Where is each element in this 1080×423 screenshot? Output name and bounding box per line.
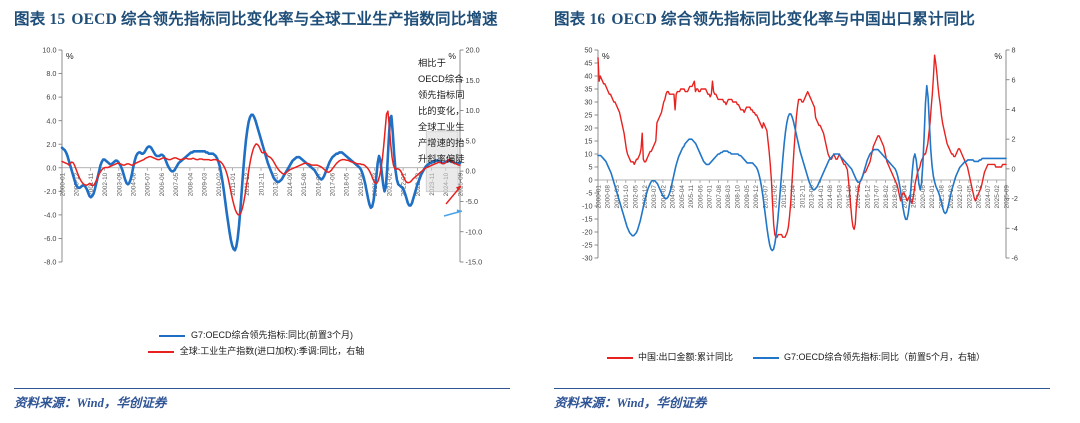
y2-axis-tick-label: 5.0 [466,136,476,145]
y-axis-tick-label: -10 [582,202,593,211]
figure-15-legend: G7:OECD综合领先指标:同比(前置3个月) 全球:工业生产指数(进口加权):… [0,330,512,357]
figure-16-legend: 中国:出口金额:累计同比 G7:OECD综合领先指标:同比（前置5个月，右轴） [540,352,1052,364]
chart-annotation-line: 领先指标同 [418,89,465,100]
y-axis-unit-label: % [66,51,74,61]
legend-label-red: 全球:工业生产指数(进口加权):季调:同比，右轴 [180,346,365,358]
series-line [598,86,1006,251]
y-axis-tick-label: 4.0 [46,116,56,125]
x-axis-tick-label: 2017-06 [329,172,336,196]
y-axis-tick-label: 30 [584,98,592,107]
legend-swatch-blue [159,335,185,337]
figure-16-number: 图表 16 [554,11,605,28]
chart-annotation-line: 升斜率偏陡 [418,153,465,164]
y2-axis-tick-label: 8 [1012,46,1016,55]
x-axis-tick-label: 2015-03 [836,185,843,209]
x-axis-tick-label: 2007-08 [716,185,723,209]
y-axis-tick-label: -2.0 [44,187,57,196]
legend-label-blue: G7:OECD综合领先指标:同比(前置3个月) [191,330,353,342]
y-axis-tick-label: 20 [584,124,592,133]
legend-swatch-blue [753,357,779,359]
legend-row-combined: 中国:出口金额:累计同比 G7:OECD综合领先指标:同比（前置5个月，右轴） [540,352,1052,364]
figure-16-title: 图表 16OECD 综合领先指标同比变化率与中国出口累计同比 [554,0,1066,32]
y-axis-tick-label: 6.0 [46,93,56,102]
x-axis-tick-label: 2015-08 [301,172,308,196]
legend-swatch-red [148,351,174,353]
y2-axis-unit-label: % [994,51,1002,61]
y-axis-tick-label: 50 [584,46,592,55]
legend-group-red: 中国:出口金额:累计同比 [607,352,733,364]
x-axis-tick-label: 2024-07 [985,185,992,209]
y-axis-tick-label: 0 [588,176,592,185]
figure-16-divider [554,388,1050,389]
x-axis-tick-label: 2022-10 [957,185,964,209]
legend-row-blue: G7:OECD综合领先指标:同比(前置3个月) [0,330,512,342]
legend-swatch-red [607,357,633,359]
x-axis-tick-label: 2025-02 [994,185,1001,209]
y-axis-tick-label: 5 [588,163,592,172]
y-axis-tick-label: -6.0 [44,234,57,243]
x-axis-tick-label: 2025-09 [457,172,464,196]
x-axis-tick-label: 2021-01 [929,185,936,209]
y2-axis-tick-label: -2 [1012,194,1019,203]
x-axis-tick-label: 2011-09 [781,185,788,208]
y2-axis-tick-label: -6 [1012,254,1019,263]
x-axis-tick-label: 2014-01 [818,185,825,209]
x-axis-tick-label: 2000-01 [59,172,66,196]
x-axis-tick-label: 2000-01 [595,185,602,209]
x-axis-tick-label: 2006-06 [159,172,166,196]
x-axis-tick-label: 2006-06 [697,185,704,209]
y-axis-tick-label: -5 [586,189,593,198]
y-axis-tick-label: -4.0 [44,211,57,220]
y2-axis-tick-label: 0.0 [466,167,476,176]
y-axis-tick-label: -25 [582,241,593,250]
x-axis-tick-label: 2012-11 [799,185,806,208]
chart-annotation-line: OECD综合 [418,73,463,84]
legend-row-red: 全球:工业生产指数(进口加权):季调:同比，右轴 [0,346,512,358]
y2-axis-tick-label: 20.0 [466,46,480,55]
x-axis-tick-label: 2025-09 [1003,185,1010,209]
y-axis-tick-label: -20 [582,228,593,237]
figure-15-divider [14,388,510,389]
legend-label-blue: G7:OECD综合领先指标:同比（前置5个月，右轴） [784,352,985,364]
x-axis-tick-label: 2001-10 [623,185,630,209]
legend-group-blue: G7:OECD综合领先指标:同比（前置5个月，右轴） [753,352,985,364]
x-axis-tick-label: 2009-03 [202,172,209,196]
figure-15-chart: 10.08.06.04.02.00.0-2.0-4.0-6.0-8.020.01… [14,36,526,336]
x-axis-tick-label: 2017-07 [874,185,881,209]
x-axis-tick-label: 2012-11 [258,172,265,195]
figure-15-panel: 图表 15OECD 综合领先指标同比变化率与全球工业生产指数同比增速 10.08… [0,0,540,423]
y2-axis-tick-label: 0 [1012,164,1016,173]
x-axis-tick-label: 2009-05 [744,185,751,209]
y-axis-tick-label: 10 [584,150,592,159]
series-line [598,55,1006,237]
figure-16-panel: 图表 16OECD 综合领先指标同比变化率与中国出口累计同比 504540353… [540,0,1080,423]
figure-16-title-text: OECD 综合领先指标同比变化率与中国出口累计同比 [611,11,975,28]
figure-16-source: 资料来源：Wind，华创证券 [554,392,706,411]
y2-axis-unit-label: % [448,51,456,61]
x-axis-tick-label: 2008-04 [187,172,194,196]
y2-axis-tick-label: 15.0 [466,76,480,85]
y2-axis-tick-label: -10.0 [466,227,483,236]
y-axis-tick-label: 25 [584,111,592,120]
legend-label-red: 中国:出口金额:累计同比 [638,352,733,364]
x-axis-tick-label: 2014-08 [827,185,834,209]
y-axis-tick-label: 0.0 [46,163,56,172]
x-axis-tick-label: 2008-03 [725,185,732,209]
y-axis-tick-label: 2.0 [46,140,56,149]
y-axis-tick-label: -15 [582,215,593,224]
y-axis-tick-label: 15 [584,137,592,146]
x-axis-tick-label: 2007-01 [707,185,714,209]
figure-16-chart: 50454035302520151050-5-10-15-20-25-30864… [554,36,1066,336]
x-axis-tick-label: 2018-05 [344,172,351,196]
x-axis-tick-label: 2005-07 [145,172,152,196]
x-axis-tick-label: 2014-09 [287,172,294,196]
y2-axis-tick-label: -5.0 [466,197,479,206]
y-axis-tick-label: -8.0 [44,258,57,267]
report-page: 图表 15OECD 综合领先指标同比变化率与全球工业生产指数同比增速 10.08… [0,0,1080,423]
y2-axis-tick-label: 2 [1012,135,1016,144]
y-axis-tick-label: 35 [584,85,592,94]
chart-annotation-line: 全球工业生 [418,121,465,132]
chart-annotation: 相比于OECD综合领先指标同比的变化，全球工业生产增速的抬升斜率偏陡 [418,57,465,164]
figure-16-svg: 50454035302520151050-5-10-15-20-25-30864… [554,36,1066,336]
x-axis-tick-label: 2007-05 [173,172,180,196]
figure-15-title: 图表 15OECD 综合领先指标同比变化率与全球工业生产指数同比增速 [14,0,526,32]
x-axis-tick-label: 2005-04 [679,185,686,209]
y2-axis-tick-label: -15.0 [466,258,483,267]
x-axis-tick-label: 2018-02 [883,185,890,209]
chart-annotation-line: 比的变化， [418,105,465,116]
y2-axis-tick-label: -4 [1012,224,1019,233]
figure-15-svg: 10.08.06.04.02.00.0-2.0-4.0-6.0-8.020.01… [14,36,526,336]
x-axis-tick-label: 2005-11 [688,185,695,208]
figure-15-source: 资料来源：Wind，华创证券 [14,392,166,411]
chart-annotation-line: 相比于 [418,57,446,68]
x-axis-tick-label: 2002-05 [632,185,639,209]
x-axis-tick-label: 2008-10 [734,185,741,209]
y-axis-tick-label: 8.0 [46,69,56,78]
y-axis-tick-label: -30 [582,254,593,263]
x-axis-tick-label: 2003-09 [116,172,123,196]
y-axis-tick-label: 10.0 [42,46,56,55]
y2-axis-tick-label: 10.0 [466,106,480,115]
y-axis-unit-label: % [602,51,610,61]
panel-gutter [539,0,540,423]
series-line [62,111,460,215]
y2-axis-tick-label: 6 [1012,75,1016,84]
y-axis-tick-label: 45 [584,59,592,68]
figure-15-number: 图表 15 [14,11,65,28]
x-axis-tick-label: 2016-12 [864,185,871,209]
x-axis-tick-label: 2003-07 [651,185,658,209]
y-axis-tick-label: 40 [584,72,592,81]
y2-axis-tick-label: 4 [1012,105,1016,114]
figure-15-title-text: OECD 综合领先指标同比变化率与全球工业生产指数同比增速 [71,11,497,28]
chart-annotation-line: 产增速的抬 [418,137,465,148]
x-axis-tick-label: 2009-12 [753,185,760,209]
x-axis-tick-label: 2000-08 [605,185,612,209]
x-axis-tick-label: 2002-10 [102,172,109,196]
